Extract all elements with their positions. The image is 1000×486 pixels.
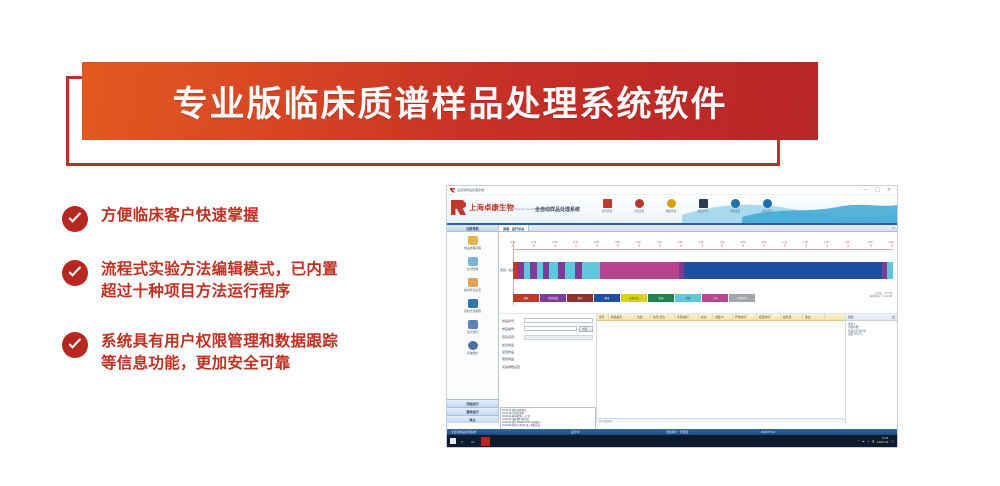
clock[interactable]: 10:44 2024/7/16 — [877, 437, 889, 445]
sample-process-icon — [468, 236, 478, 245]
table-column-header: 位置 — [635, 314, 651, 320]
status-current-user: 当前用户：管理员 — [662, 430, 757, 434]
system-tray: ^ ▰ ◖ ▮ 10:44 2024/7/16 ▢ — [858, 437, 894, 445]
legend-chip: 混匀 — [567, 294, 593, 302]
gantt-segment[interactable] — [887, 262, 893, 279]
gantt-segment[interactable] — [600, 262, 680, 279]
toolbar-label: 运行状态 — [595, 209, 619, 213]
sample-table: 序号 样品编号 位置 架号/孔位 条码/编号 状态 进度/% 开始时间 结束时间… — [597, 314, 845, 423]
list-item: 方便临床客户快速掌握 — [62, 205, 412, 232]
list-item: 流程式实验方法编辑模式，已内置 超过十种项目方法运行程序 — [62, 259, 412, 304]
status-run-state: 运行中 — [567, 430, 662, 434]
application-screenshot: 全自动样品处理系统 — ▢ ✕ 上海卓康生物 Shanghai Zuokang … — [446, 185, 898, 448]
network-icon[interactable]: ▰ — [862, 439, 864, 443]
browse-button[interactable]: 浏览... — [579, 326, 593, 332]
run-status-icon — [603, 199, 612, 208]
gantt-segment[interactable] — [565, 262, 575, 279]
legend-chip: 洗涤 — [648, 294, 674, 302]
sample-id-input[interactable] — [524, 326, 577, 331]
battery-icon[interactable]: ▮ — [872, 439, 874, 443]
sidebar-header: 功能导航 — [447, 225, 498, 232]
maximize-button[interactable]: ▢ — [875, 188, 880, 193]
legend-chip: 试剂添加 — [540, 294, 566, 302]
gantt-segment[interactable] — [543, 262, 550, 279]
ruler-tick: 2:50 — [868, 241, 873, 244]
project-name-readonly — [524, 335, 593, 340]
ruler-tick: 1:40 — [720, 241, 725, 244]
bullet-text: 流程式实验方法编辑模式，已内置 超过十种项目方法运行程序 — [101, 259, 338, 304]
app-header: 上海卓康生物 Shanghai Zuokang Biotech 全自动样品处理系… — [447, 195, 897, 225]
window-titlebar: 全自动样品处理系统 — ▢ ✕ — [447, 186, 897, 195]
sidebar-item-label: 耗材仓位设置 — [447, 288, 498, 292]
tab-strip: 流程 - 运行状态 ✕ — [499, 225, 897, 232]
ruler-tick: 1:10 — [657, 241, 662, 244]
log-line: 10:21:08 样品 S-0013 进入萃取反应 — [502, 424, 594, 427]
brand-name-cn: 上海卓康生物 — [469, 203, 514, 212]
gantt-legend: 加样 试剂添加 混匀 孵育 温育反应 洗涤 转移 上机 系统复位 — [513, 294, 755, 302]
close-button[interactable]: ✕ — [887, 188, 891, 193]
sidebar-item-label: 系统维护 — [447, 351, 498, 355]
feature-bullet-list: 方便临床客户快速掌握 流程式实验方法编辑模式，已内置 超过十种项目方法运行程序 … — [62, 205, 412, 403]
consumable-icon — [468, 278, 478, 287]
sidebar-item-label: 试剂管理 — [447, 267, 498, 271]
table-header-row: 序号 样品编号 位置 架号/孔位 条码/编号 状态 进度/% 开始时间 结束时间… — [597, 314, 845, 321]
notifications-icon[interactable]: ▢ — [891, 439, 894, 443]
ruler-tick: 0:30 — [573, 241, 578, 244]
form-row-sample-id: 样品编号： 浏览... — [502, 326, 593, 332]
bullet-line: 等信息功能，更加安全可靠 — [101, 355, 291, 372]
app-logo-icon — [450, 188, 455, 193]
sidebar-item-consumable[interactable]: 耗材仓位设置 — [447, 278, 498, 292]
checkbox-recheck[interactable]: 复查样品 — [502, 350, 593, 354]
toolbar-button-run-status[interactable]: 运行状态 — [595, 199, 619, 213]
clock-date: 2024/7/16 — [877, 441, 889, 444]
time-ruler: 0:00 0:10 0:20 0:30 0:40 0:50 1:00 1:10 … — [513, 241, 893, 250]
table-column-header: 备注 — [803, 314, 825, 320]
check-circle-icon — [62, 332, 88, 358]
table-column-header: 序号 — [597, 314, 609, 320]
ruler-tick: 2:40 — [845, 241, 850, 244]
table-footer: 共 0 条记录 — [597, 418, 845, 423]
form-row-batch: 样品批号： — [502, 318, 593, 323]
sidebar-item-label: 样品处理流程 — [447, 246, 498, 250]
ruler-tick: 0:20 — [552, 241, 557, 244]
toolbar-button-experiment-settings[interactable]: 实验设置 — [627, 199, 651, 213]
ruler-tick: 1:50 — [740, 241, 745, 244]
remaining-time: 剩余时间： 01:42:38 — [870, 295, 892, 298]
experiment-settings-icon — [635, 199, 644, 208]
bullet-line: 流程式实验方法编辑模式，已内置 — [101, 261, 338, 278]
stop-run-button[interactable]: 停止 — [447, 415, 498, 423]
app-main: 流程 - 运行状态 ✕ 0:00 0:10 0:20 0:30 0:40 0:5… — [499, 225, 897, 423]
experiment-params-link[interactable]: 实验参数设置 — [502, 365, 593, 369]
gantt-segment[interactable] — [575, 262, 583, 279]
reagent-icon — [468, 257, 478, 266]
sidebar-item-reagent[interactable]: 试剂管理 — [447, 257, 498, 271]
bullet-text: 系统具有用户权限管理和数据跟踪 等信息功能，更加安全可靠 — [101, 331, 338, 376]
table-column-header: 操作员 — [781, 314, 803, 320]
sidebar-item-maintenance[interactable]: 系统维护 — [447, 341, 498, 355]
gantt-bar[interactable] — [513, 262, 893, 279]
bullet-line: 超过十种项目方法运行程序 — [101, 283, 291, 300]
legend-chip: 温育反应 — [621, 294, 647, 302]
toolbar-label: 数据查询 — [659, 209, 683, 213]
table-column-header: 条码/编号 — [675, 314, 699, 320]
toolbar-button-report-print[interactable]: 报告打印 — [691, 199, 715, 213]
status-app-name: 全自动样品处理系统 — [447, 430, 567, 434]
sidebar-item-monitor[interactable]: 运行监控 — [447, 320, 498, 334]
check-circle-icon — [62, 260, 88, 286]
toolbar-label: 用户登录 — [755, 209, 779, 213]
toolbar-label: 系统设置 — [723, 209, 747, 213]
toolbar-button-user-login[interactable]: 用户登录 — [755, 199, 779, 213]
window-controls: — ▢ ✕ — [863, 188, 894, 193]
table-column-header: 状态 — [699, 314, 713, 320]
detail-column-header: 值 — [890, 314, 897, 320]
volume-icon[interactable]: ◖ — [868, 439, 870, 443]
status-date: 2024/07/16 — [757, 430, 779, 434]
checkbox-qc[interactable]: 质控样品 — [502, 357, 593, 361]
tab-label: 流程 - 运行状态 — [503, 226, 524, 231]
sidebar-items: 样品处理流程 试剂管理 耗材仓位设置 实验方法编辑 运行监控 — [447, 232, 498, 399]
detail-line: 温度 37.0 ℃ — [848, 333, 863, 336]
toolbar-button-system-settings[interactable]: 系统设置 — [723, 199, 747, 213]
detail-panel: 属性 值 通道 1 当前步骤： 萃取反应进行中 温度 37.0 ℃ — [845, 314, 897, 423]
sidebar-item-sample-process[interactable]: 样品处理流程 — [447, 236, 498, 250]
monitor-icon — [468, 320, 478, 329]
gantt-progress-note: 已完成： 13 / 96 剩余时间： 01:42:38 — [870, 292, 892, 299]
batch-input[interactable] — [524, 318, 593, 323]
ruler-tick: 1:20 — [678, 241, 683, 244]
method-edit-icon — [468, 299, 478, 308]
tab-run-status[interactable]: 流程 - 运行状态 — [499, 225, 529, 231]
sidebar-footer: 开始运行 暂停运行 停止 — [447, 399, 498, 423]
windows-start-icon[interactable] — [450, 438, 456, 444]
app-body: 功能导航 样品处理流程 试剂管理 耗材仓位设置 实验方法编辑 — [447, 225, 897, 423]
table-column-header: 结束时间 — [757, 314, 781, 320]
ruler-tick: 2:00 — [761, 241, 766, 244]
task-view-icon[interactable]: ▭ — [471, 439, 476, 444]
form-row-project: 项目名称： — [502, 335, 593, 340]
sidebar-item-method-edit[interactable]: 实验方法编辑 — [447, 299, 498, 313]
list-item: 系统具有用户权限管理和数据跟踪 等信息功能，更加安全可靠 — [62, 331, 412, 376]
bullet-line: 方便临床客户快速掌握 — [101, 207, 259, 224]
sidebar-item-label: 实验方法编辑 — [447, 309, 498, 313]
legend-chip: 加样 — [513, 294, 539, 302]
form-label: 样品编号： — [502, 327, 524, 331]
gantt-segment[interactable] — [530, 262, 537, 279]
table-body[interactable] — [597, 321, 845, 418]
table-column-header: 进度/% — [713, 314, 733, 320]
legend-chip: 孵育 — [594, 294, 620, 302]
windows-taskbar: ⌕ ▭ ^ ▰ ◖ ▮ 10:44 2024/7/16 ▢ — [447, 435, 897, 447]
detail-header-row: 属性 值 — [846, 314, 897, 321]
table-column-header: 架号/孔位 — [651, 314, 675, 320]
ruler-tick: 2:10 — [782, 241, 787, 244]
table-column-header: 样品编号 — [609, 314, 635, 320]
maintenance-icon — [468, 341, 478, 350]
brand-logo-icon — [451, 200, 466, 215]
brand-block: 上海卓康生物 Shanghai Zuokang Biotech — [451, 200, 546, 215]
ruler-tick: 0:10 — [531, 241, 536, 244]
system-settings-icon — [731, 199, 740, 208]
ruler-tick: 2:30 — [824, 241, 829, 244]
sidebar-item-label: 运行监控 — [447, 330, 498, 334]
main-toolbar: 运行状态 实验设置 数据查询 报告打印 系统设置 用户登录 — [595, 199, 779, 213]
gantt-chart: 0:00 0:10 0:20 0:30 0:40 0:50 1:00 1:10 … — [499, 232, 897, 314]
data-query-icon — [667, 199, 676, 208]
toolbar-label: 报告打印 — [691, 209, 715, 213]
ruler-tick: 0:50 — [615, 241, 620, 244]
gantt-segment[interactable] — [582, 262, 599, 279]
toolbar-label: 实验设置 — [627, 209, 651, 213]
pause-run-button[interactable]: 暂停运行 — [447, 407, 498, 415]
minimize-button[interactable]: — — [863, 188, 868, 193]
form-label: 样品批号： — [502, 319, 524, 323]
ruler-tick: 0:40 — [594, 241, 599, 244]
title-banner: 专业版临床质谱样品处理系统软件 — [66, 62, 818, 166]
legend-chip: 系统复位 — [729, 294, 755, 302]
checkbox-urgent[interactable]: 加急样品 — [502, 343, 593, 347]
search-icon[interactable]: ⌕ — [461, 439, 466, 444]
form-label: 项目名称： — [502, 335, 524, 339]
app-subtitle: 全自动样品处理系统 — [535, 206, 580, 213]
legend-chip: 上机 — [702, 294, 728, 302]
gantt-segment[interactable] — [549, 262, 557, 279]
bullet-text: 方便临床客户快速掌握 — [101, 205, 259, 227]
ruler-tick: 1:30 — [699, 241, 704, 244]
bullet-line: 系统具有用户权限管理和数据跟踪 — [101, 333, 338, 350]
tab-close-icon[interactable]: ✕ — [892, 225, 897, 231]
start-run-button[interactable]: 开始运行 — [447, 399, 498, 407]
legend-chip: 转移 — [675, 294, 701, 302]
gantt-segment[interactable] — [558, 262, 565, 279]
gantt-segment[interactable] — [684, 262, 882, 279]
clock-time: 10:44 — [882, 437, 889, 440]
toolbar-button-data-query[interactable]: 数据查询 — [659, 199, 683, 213]
app-sidebar: 功能导航 样品处理流程 试剂管理 耗材仓位设置 实验方法编辑 — [447, 225, 499, 423]
user-login-icon — [763, 199, 772, 208]
tray-expand-icon[interactable]: ^ — [858, 439, 859, 443]
report-print-icon — [699, 199, 708, 208]
zuokang-app-icon[interactable] — [481, 437, 490, 446]
ruler-tick: 3:00 — [889, 241, 894, 244]
page-title: 专业版临床质谱样品处理系统软件 — [82, 62, 818, 140]
table-column-header: 开始时间 — [733, 314, 757, 320]
ruler-tick: 2:20 — [803, 241, 808, 244]
window-caption: 全自动样品处理系统 — [457, 188, 863, 192]
detail-column-header: 属性 — [846, 314, 890, 320]
check-circle-icon — [62, 206, 88, 232]
detail-body: 通道 1 当前步骤： 萃取反应进行中 温度 37.0 ℃ — [846, 321, 897, 339]
ruler-tick: 1:00 — [636, 241, 641, 244]
